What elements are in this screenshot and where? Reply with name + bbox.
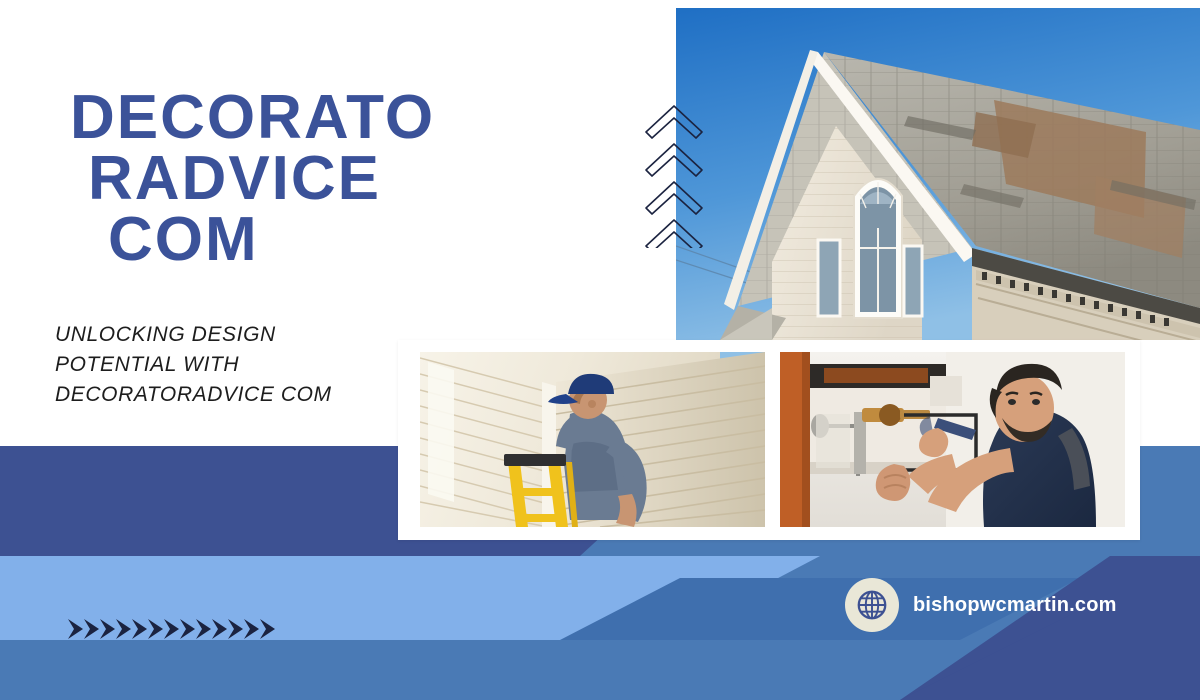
plumber-photo [780,352,1125,527]
title-line-2: RADVICE [70,149,670,210]
subtitle-line-1: UNLOCKING DESIGN [55,320,455,350]
chevron-right-filled-icon [68,616,288,642]
subtitle-line-3: DECORATORADVICE COM [55,380,455,410]
siding-illustration [420,352,765,527]
title-line-1: DECORATO [70,88,670,149]
damaged-roof-photo [676,8,1200,340]
website-url: bishopwcmartin.com [913,594,1117,617]
globe-glyph [857,590,887,620]
website-badge[interactable]: bishopwcmartin.com [845,578,1117,632]
siding-worker-photo [420,352,765,527]
globe-icon [845,578,899,632]
plumber-illustration [780,352,1125,527]
title-line-3: COM [70,210,670,271]
roof-illustration [676,8,1200,340]
arrow-row-group [68,616,288,642]
banner-canvas: DECORATO RADVICE COM UNLOCKING DESIGN PO… [0,0,1200,700]
subtitle-line-2: POTENTIAL WITH [55,350,455,380]
page-title: DECORATO RADVICE COM [70,88,670,270]
subtitle: UNLOCKING DESIGN POTENTIAL WITH DECORATO… [55,320,455,409]
